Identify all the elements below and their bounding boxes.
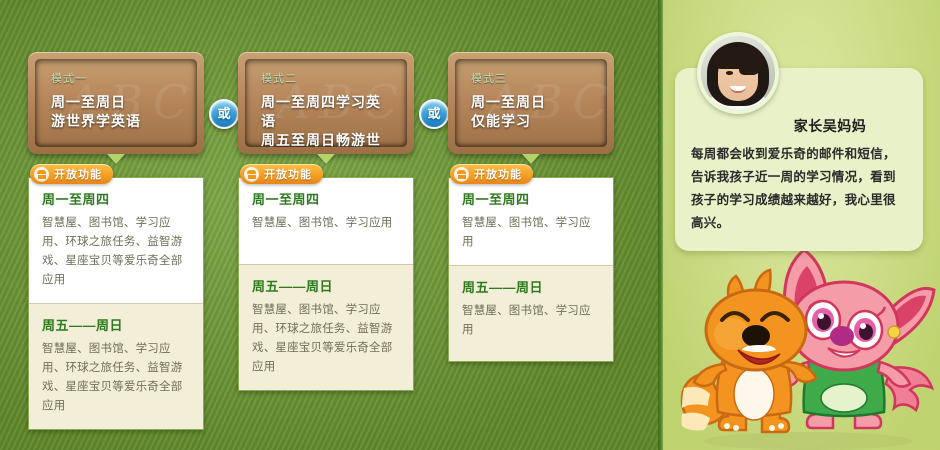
parent-avatar-photo — [701, 36, 775, 110]
blackboard-pointer-arrow — [107, 154, 125, 164]
mode-headline-line-2: 游世界学英语 — [51, 112, 183, 131]
feature-section-weekday: 周一至周四 智慧屋、图书馆、学习应用 — [449, 178, 613, 265]
house-icon — [34, 167, 49, 182]
section-body: 智慧屋、图书馆、学习应用、环球之旅任务、益智游戏、星座宝贝等爱乐奇全部应用 — [252, 301, 400, 377]
mascot-group — [676, 238, 940, 450]
open-feature-label: 开放功能 — [474, 166, 522, 182]
section-title: 周一至周四 — [252, 189, 400, 208]
or-connector-2[interactable]: 或 — [419, 99, 449, 129]
blackboard-surface: 模式二 周一至周四学习英语 周五至周日畅游世界 — [245, 59, 407, 147]
feature-section-weekday: 周一至周四 智慧屋、图书馆、学习应用、环球之旅任务、益智游戏、星座宝贝等爱乐奇全… — [29, 178, 203, 303]
blackboard-surface: 模式三 周一至周日 仅能学习 — [455, 59, 607, 147]
mode-column-2: 模式二 周一至周四学习英语 周五至周日畅游世界 开放功能 周一至周四 智慧屋、图… — [238, 52, 414, 391]
section-body: 智慧屋、图书馆、学习应用、环球之旅任务、益智游戏、星座宝贝等爱乐奇全部应用 — [42, 340, 190, 416]
mode-label: 模式二 — [261, 70, 393, 86]
section-body: 智慧屋、图书馆、学习应用、环球之旅任务、益智游戏、星座宝贝等爱乐奇全部应用 — [42, 214, 190, 290]
mode-headline-line-1: 周一至周四学习英语 — [261, 93, 393, 131]
feature-section-weekend: 周五——周日 智慧屋、图书馆、学习应用、环球之旅任务、益智游戏、星座宝贝等爱乐奇… — [239, 264, 413, 390]
feature-section-weekend: 周五——周日 智慧屋、图书馆、学习应用 — [449, 265, 613, 361]
open-feature-badge-1: 开放功能 — [30, 164, 113, 184]
or-connector-1[interactable]: 或 — [209, 99, 239, 129]
section-body: 智慧屋、图书馆、学习应用 — [462, 302, 600, 340]
mode-headline-line-2: 周五至周日畅游世界 — [261, 131, 393, 147]
blackboard-mode-2[interactable]: 模式二 周一至周四学习英语 周五至周日畅游世界 — [238, 52, 414, 154]
mode-headline-line-1: 周一至周日 — [51, 93, 183, 112]
promo-banner: 模式一 周一至周日 游世界学英语 开放功能 周一至周四 智慧屋、图书馆、学习应用… — [0, 0, 940, 450]
house-icon — [244, 167, 259, 182]
open-feature-label: 开放功能 — [54, 166, 102, 182]
avatar — [697, 32, 779, 114]
testimonial-quote-text: 每周都会收到爱乐奇的邮件和短信，告诉我孩子近一周的学习情况，看到孩子的学习成绩越… — [691, 143, 907, 235]
section-title: 周一至周四 — [462, 189, 600, 208]
mode-label: 模式一 — [51, 70, 183, 86]
mascot-illustration — [676, 238, 940, 450]
mode-column-1: 模式一 周一至周日 游世界学英语 开放功能 周一至周四 智慧屋、图书馆、学习应用… — [28, 52, 204, 430]
mode-headline-line-2: 仅能学习 — [471, 112, 593, 131]
testimonial-author-name: 家长吴妈妈 — [691, 116, 907, 136]
blackboard-pointer-arrow — [317, 154, 335, 164]
section-body: 智慧屋、图书馆、学习应用 — [252, 214, 400, 233]
feature-section-weekday: 周一至周四 智慧屋、图书馆、学习应用 — [239, 178, 413, 264]
section-title: 周五——周日 — [252, 276, 400, 295]
blackboard-pointer-arrow — [522, 154, 540, 164]
section-title: 周一至周四 — [42, 189, 190, 208]
feature-card-1: 周一至周四 智慧屋、图书馆、学习应用、环球之旅任务、益智游戏、星座宝贝等爱乐奇全… — [28, 177, 204, 430]
blackboard-mode-1[interactable]: 模式一 周一至周日 游世界学英语 — [28, 52, 204, 154]
open-feature-label: 开放功能 — [264, 166, 312, 182]
feature-card-3: 周一至周四 智慧屋、图书馆、学习应用 周五——周日 智慧屋、图书馆、学习应用 — [448, 177, 614, 362]
section-body: 智慧屋、图书馆、学习应用 — [462, 214, 600, 252]
mode-headline-line-1: 周一至周日 — [471, 93, 593, 112]
open-feature-badge-3: 开放功能 — [450, 164, 533, 184]
feature-card-2: 周一至周四 智慧屋、图书馆、学习应用 周五——周日 智慧屋、图书馆、学习应用、环… — [238, 177, 414, 391]
house-icon — [454, 167, 469, 182]
blackboard-mode-3[interactable]: 模式三 周一至周日 仅能学习 — [448, 52, 614, 154]
section-title: 周五——周日 — [42, 315, 190, 334]
mode-label: 模式三 — [471, 70, 593, 86]
mode-column-3: 模式三 周一至周日 仅能学习 开放功能 周一至周四 智慧屋、图书馆、学习应用 周… — [448, 52, 614, 362]
section-title: 周五——周日 — [462, 277, 600, 296]
open-feature-badge-2: 开放功能 — [240, 164, 323, 184]
blackboard-surface: 模式一 周一至周日 游世界学英语 — [35, 59, 197, 147]
feature-section-weekend: 周五——周日 智慧屋、图书馆、学习应用、环球之旅任务、益智游戏、星座宝贝等爱乐奇… — [29, 303, 203, 429]
